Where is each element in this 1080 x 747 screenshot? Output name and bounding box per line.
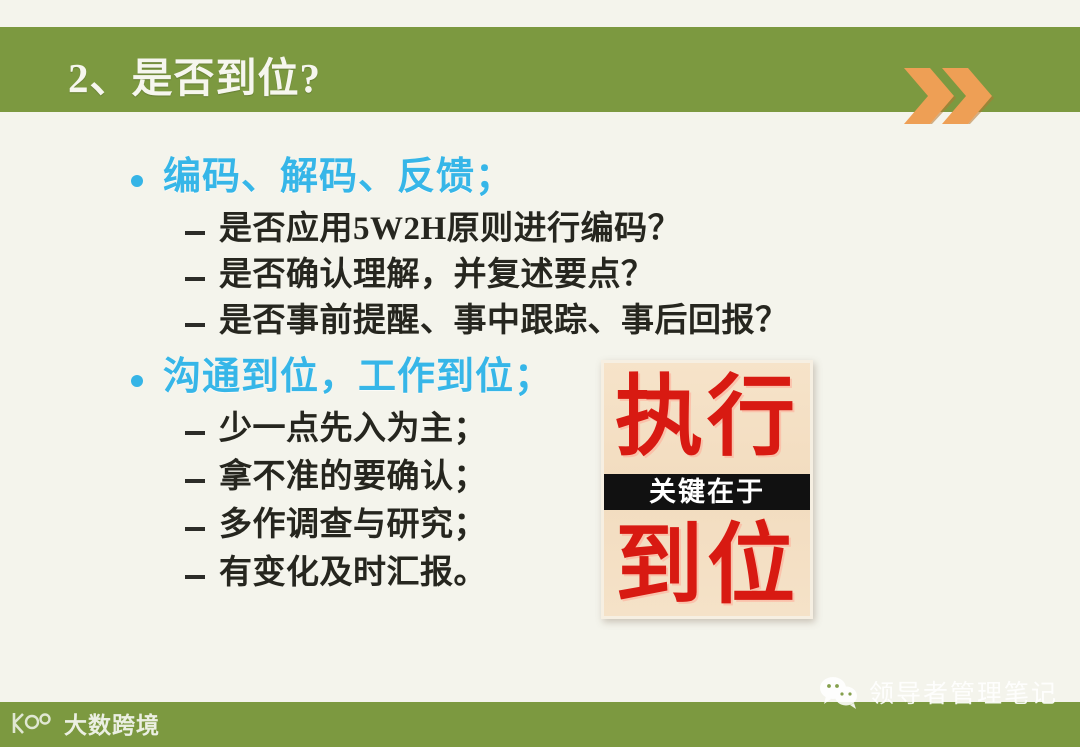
site-watermark: 大数跨境 (10, 706, 160, 740)
wechat-logo-icon (819, 675, 859, 709)
poster-band: 关键在于 (604, 474, 810, 510)
wechat-brand: 领导者管理笔记 (819, 674, 1058, 710)
dash-marker-icon (185, 527, 205, 531)
dash-marker-icon (185, 479, 205, 483)
bullet-dot-icon (131, 175, 143, 187)
bullet-level2-1-1: 是否应用5W2H原则进行编码？ (185, 211, 681, 247)
bullet-level1-1: 编码、解码、反馈； (131, 157, 514, 199)
bullet-level2-label: 多作调查与研究； (219, 507, 487, 543)
bullet-level2-label: 拿不准的要确认； (219, 459, 487, 495)
bullet-level1-label: 编码、解码、反馈； (163, 157, 514, 199)
bullet-level2-1-3: 是否事前提醒、事中跟踪、事后回报？ (185, 303, 789, 339)
poster-top-text: 执行 (604, 373, 810, 461)
dash-marker-icon (185, 323, 205, 327)
site-watermark-label: 大数跨境 (64, 706, 160, 740)
wechat-account-name: 领导者管理笔记 (869, 674, 1058, 710)
bullet-level2-2-3: 多作调查与研究； (185, 507, 487, 543)
poster-image: PHOTO 执行 关键在于 到位 (601, 360, 813, 619)
slide-body: 编码、解码、反馈； 是否应用5W2H原则进行编码？ 是否确认理解，并复述要点？ … (0, 112, 1080, 702)
bullet-level2-label: 是否确认理解，并复述要点？ (219, 257, 655, 293)
dash-marker-icon (185, 431, 205, 435)
bullet-level1-label: 沟通到位，工作到位； (163, 357, 553, 399)
page-title: 2、是否到位? (68, 44, 321, 104)
bullet-level2-label: 少一点先入为主； (219, 411, 487, 447)
bullet-level2-1-2: 是否确认理解，并复述要点？ (185, 257, 655, 293)
bullet-level2-2-1: 少一点先入为主； (185, 411, 487, 447)
dash-marker-icon (185, 575, 205, 579)
dash-marker-icon (185, 231, 205, 235)
bullet-level2-label: 有变化及时汇报。 (219, 555, 487, 591)
dash-marker-icon (185, 277, 205, 281)
bullet-level1-2: 沟通到位，工作到位； (131, 357, 553, 399)
bullet-dot-icon (131, 375, 143, 387)
bullet-level2-label: 是否事前提醒、事中跟踪、事后回报？ (219, 303, 789, 339)
bullet-level2-2-2: 拿不准的要确认； (185, 459, 487, 495)
dashujingkua-logo-icon (10, 710, 56, 736)
poster-bottom-text: 到位 (604, 521, 810, 609)
bullet-level2-2-4: 有变化及时汇报。 (185, 555, 487, 591)
bullet-level2-label: 是否应用5W2H原则进行编码？ (219, 211, 681, 247)
slide-canvas: 2、是否到位? 编码、解码、反馈； 是否应用5W2H原则进行编码？ (0, 0, 1080, 747)
poster-band-text: 关键在于 (649, 479, 765, 506)
